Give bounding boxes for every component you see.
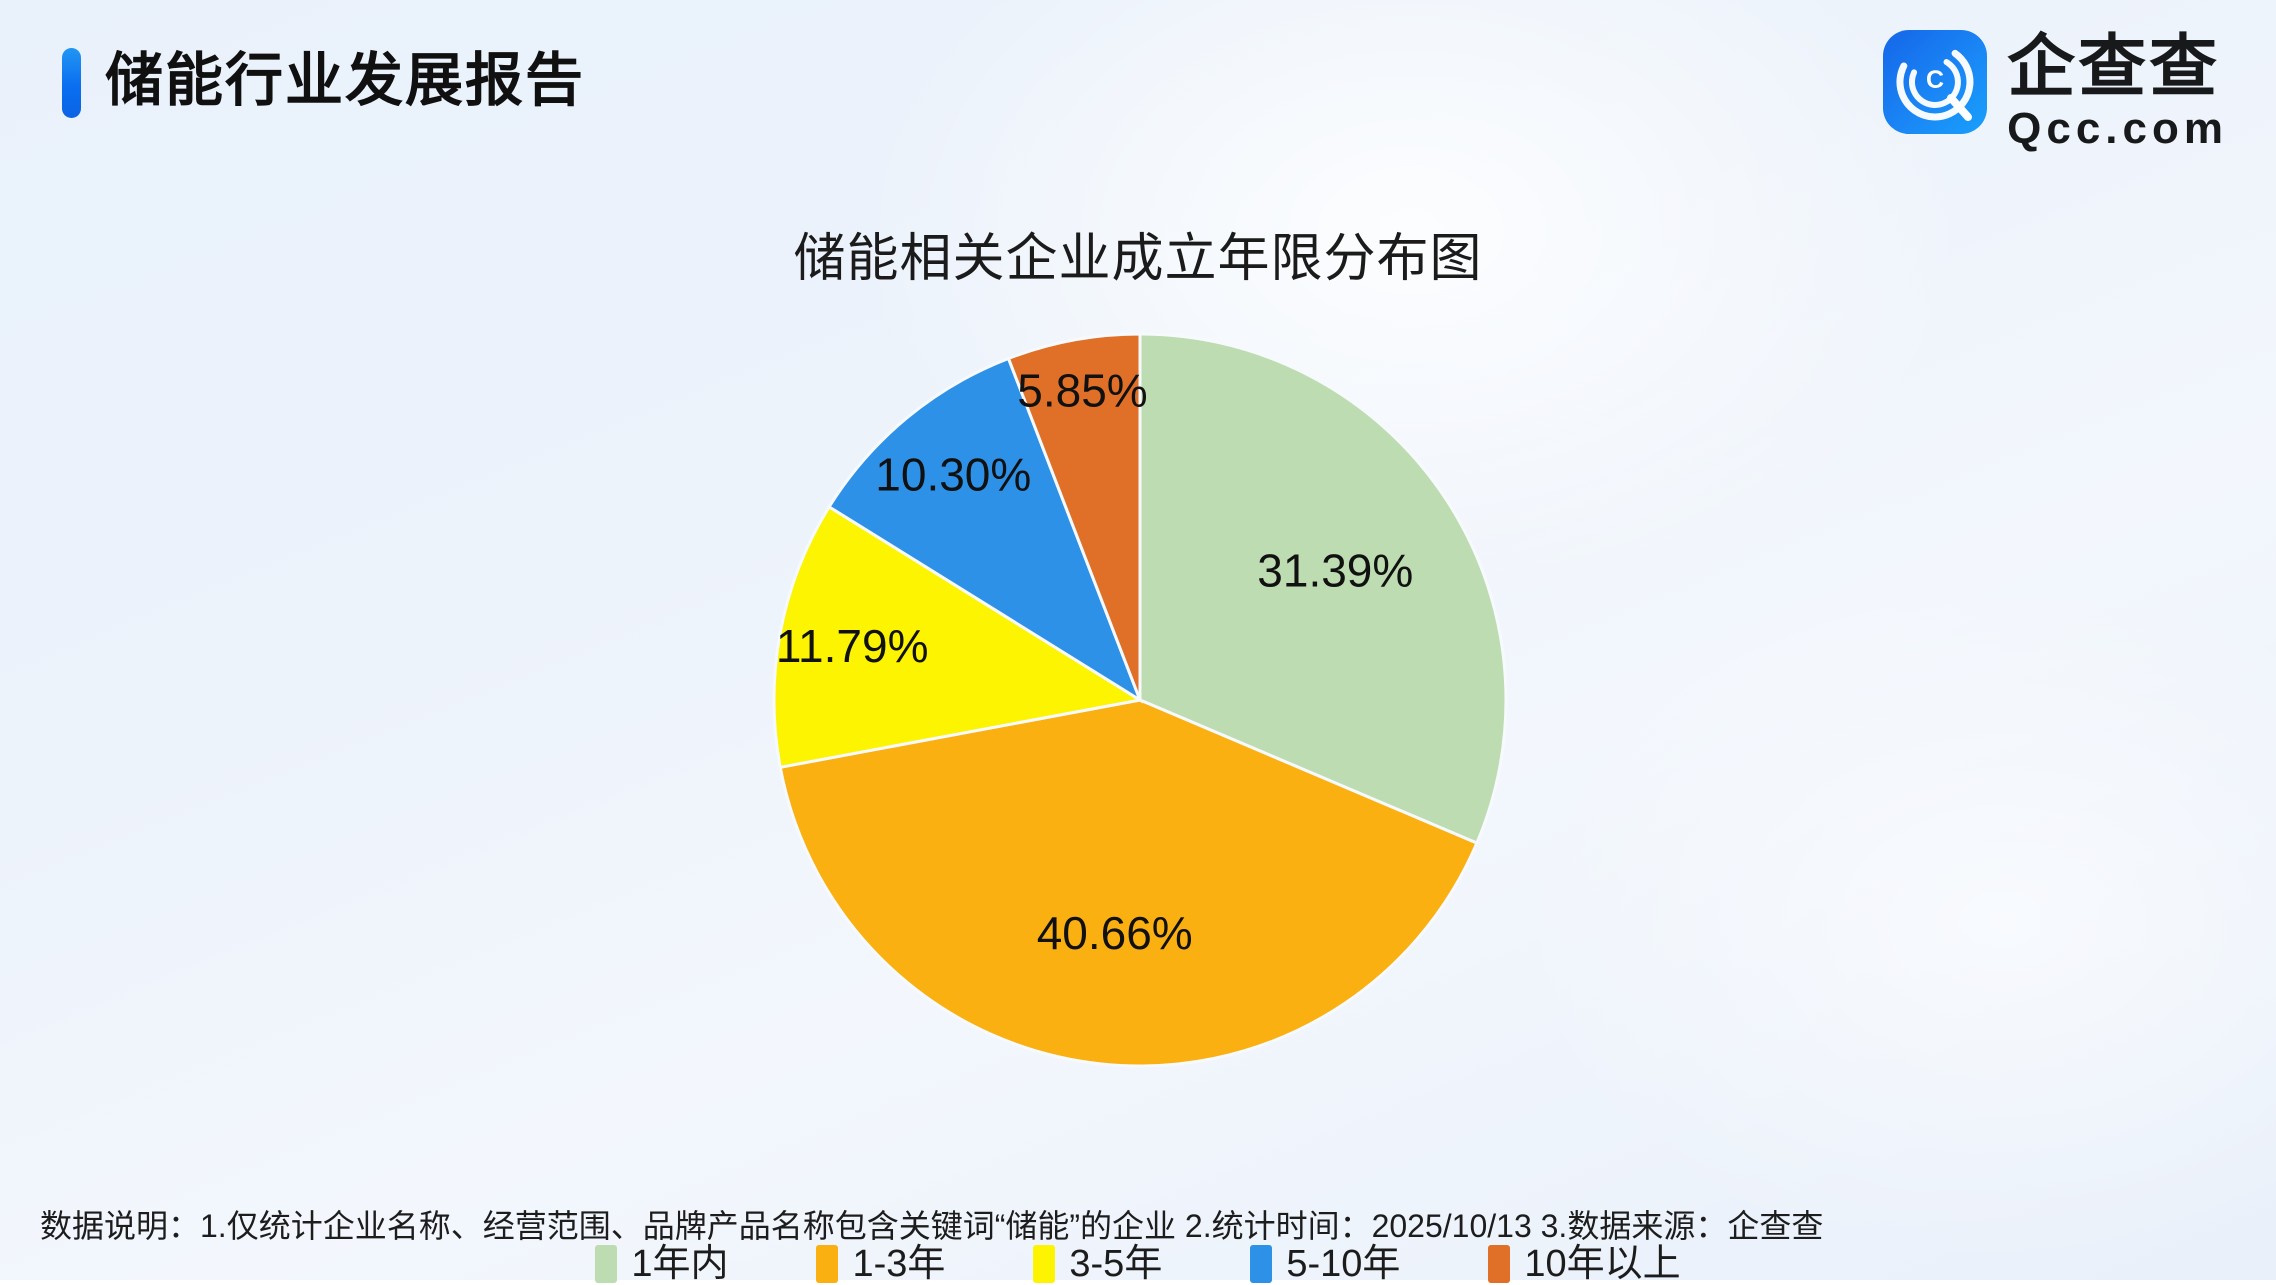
legend-swatch-icon <box>1033 1245 1055 1283</box>
legend-item[interactable]: 10年以上 <box>1488 1245 1680 1283</box>
chart-title: 储能相关企业成立年限分布图 <box>0 216 2276 291</box>
page-header: 储能行业发展报告 C 企查查 Qcc.com <box>0 0 2276 160</box>
legend-label: 1-3年 <box>852 1245 945 1283</box>
svg-text:C: C <box>1926 66 1944 94</box>
chart-legend: 1年内1-3年3-5年5-10年10年以上 <box>0 1245 2276 1283</box>
pie-slice-label: 40.66% <box>1037 907 1193 959</box>
pie-chart-svg: 31.39%40.66%11.79%10.30%5.85% <box>770 330 1510 1070</box>
legend-label: 5-10年 <box>1286 1245 1400 1283</box>
footer-note: 数据说明：1.仅统计企业名称、经营范围、品牌产品名称包含关键词“储能”的企业 2… <box>40 1206 2240 1246</box>
legend-label: 10年以上 <box>1524 1245 1680 1283</box>
report-page: 储能行业发展报告 C 企查查 Qcc.com 储能相关企业成立年限分布图 <box>0 0 2276 1280</box>
legend-item[interactable]: 3-5年 <box>1033 1245 1162 1283</box>
pie-slice-label: 11.79% <box>776 620 929 672</box>
legend-label: 1年内 <box>631 1245 728 1283</box>
legend-swatch-icon <box>1488 1245 1510 1283</box>
logo-text-block: 企查查 Qcc.com <box>2007 30 2228 152</box>
brand-logo[interactable]: C 企查查 Qcc.com <box>1883 30 2228 152</box>
pie-slice-label: 31.39% <box>1257 545 1413 597</box>
legend-swatch-icon <box>816 1245 838 1283</box>
qcc-logo-icon: C <box>1883 30 1987 134</box>
page-title: 储能行业发展报告 <box>105 38 585 124</box>
legend-swatch-icon <box>1250 1245 1272 1283</box>
title-accent-bar-icon <box>62 48 81 118</box>
pie-slice-label: 10.30% <box>875 448 1031 500</box>
logo-wordmark: 企查查 <box>2007 30 2228 104</box>
legend-item[interactable]: 1-3年 <box>816 1245 945 1283</box>
legend-item[interactable]: 1年内 <box>595 1245 728 1283</box>
legend-swatch-icon <box>595 1245 617 1283</box>
chart-area: 储能相关企业成立年限分布图 31.39%40.66%11.79%10.30%5.… <box>0 140 2276 1150</box>
legend-label: 3-5年 <box>1069 1245 1162 1283</box>
pie-chart: 31.39%40.66%11.79%10.30%5.85% <box>770 330 1510 1070</box>
legend-item[interactable]: 5-10年 <box>1250 1245 1400 1283</box>
pie-slice-label: 5.85% <box>1017 365 1147 417</box>
